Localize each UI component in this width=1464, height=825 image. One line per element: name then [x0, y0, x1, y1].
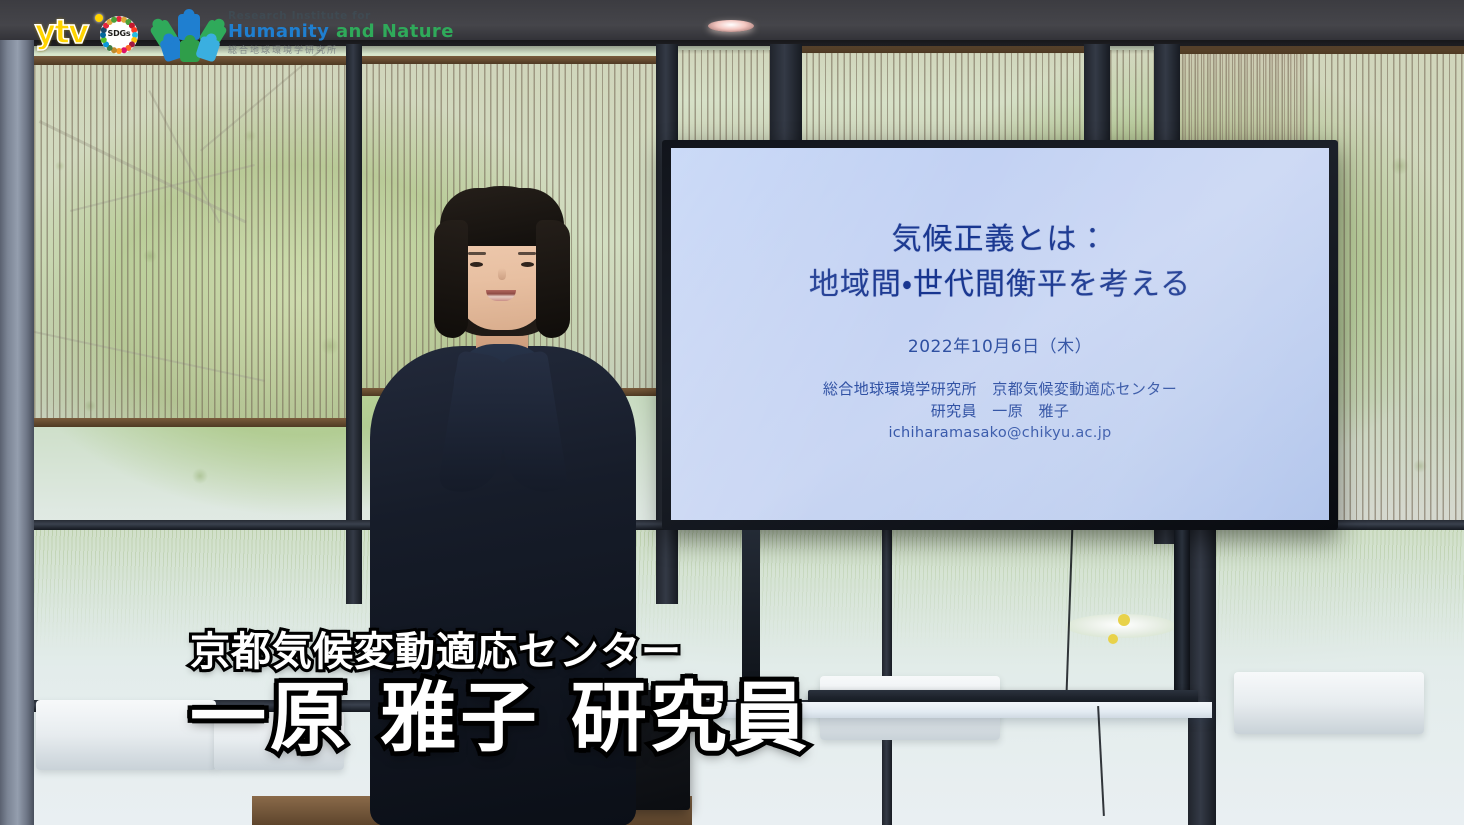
slide-title-line2: 地域間・世代間衡平を考える [809, 265, 1191, 304]
rihn-wordmark: Research Institute for Humanity and Natu… [228, 10, 464, 56]
speaker-hair-side-right [536, 220, 570, 338]
rihn-globe-icon [152, 8, 226, 60]
speaker-nose [498, 268, 506, 280]
slide-title: 気候正義とは： 地域間・世代間衡平を考える [809, 148, 1191, 304]
speaker-eyebrow-right [518, 252, 536, 255]
window-mullion [1084, 44, 1110, 150]
broadcast-logo-bar: ytv SDGs Research Institute for Humanity… [0, 0, 470, 62]
ytv-logo-text: ytv [35, 15, 88, 48]
slide-organization: 総合地球環境学研究所 京都気候変動適応センター [823, 379, 1177, 401]
speaker-eye-left [470, 262, 483, 267]
slide-screen: 気候正義とは： 地域間・世代間衡平を考える 2022年10月6日（木） 総合地球… [671, 148, 1329, 520]
blind-rail [28, 418, 346, 427]
slide-organization-block: 総合地球環境学研究所 京都気候変動適応センター 研究員 一原 雅子 [823, 379, 1177, 423]
water-lily-flower [1118, 614, 1130, 626]
caption-organization: 京都気候変動適応センター [190, 630, 970, 674]
slide-title-line1: 気候正義とは： [809, 220, 1191, 259]
display-stand-post [1174, 530, 1190, 710]
rihn-and-nature: and Nature [336, 21, 454, 42]
rihn-japanese-name: 総合地球環境学研究所 [228, 43, 464, 56]
window-mullion [770, 44, 802, 154]
slide-email: ichiharamasako@chikyu.ac.jp [888, 425, 1111, 441]
ceiling-downlight [708, 20, 754, 32]
room-pillar-left [0, 40, 34, 825]
video-frame: 気候正義とは： 地域間・世代間衡平を考える 2022年10月6日（木） 総合地球… [0, 0, 1464, 825]
slide-date: 2022年10月6日（木） [908, 332, 1092, 357]
rihn-line2: Humanity and Nature [228, 23, 464, 42]
speaker-hair-side-left [434, 220, 468, 338]
sdgs-icon: SDGs [100, 16, 138, 54]
garden-stone [36, 700, 216, 770]
sdgs-label: SDGs [100, 29, 138, 38]
rihn-humanity: Humanity [228, 21, 329, 42]
ytv-logo: ytv [22, 12, 100, 50]
window-mullion [1188, 520, 1216, 825]
water-lily-flower [1108, 634, 1118, 644]
window-blind-left [28, 62, 346, 422]
lower-third-caption: 京都気候変動適応センター 一原 雅子 研究員 [190, 630, 970, 760]
speaker-eyebrow-left [468, 252, 486, 255]
garden-bench [1234, 672, 1424, 734]
caption-name-title: 一原 雅子 研究員 [190, 676, 970, 760]
slide-role-name: 研究員 一原 雅子 [823, 401, 1177, 423]
speaker-eye-right [521, 262, 534, 267]
display-bezel: 気候正義とは： 地域間・世代間衡平を考える 2022年10月6日（木） 総合地球… [662, 140, 1338, 530]
window-blind-center-right [800, 50, 1088, 146]
presentation-display[interactable]: 気候正義とは： 地域間・世代間衡平を考える 2022年10月6日（木） 総合地球… [662, 140, 1338, 530]
window-blind-center [676, 50, 776, 142]
